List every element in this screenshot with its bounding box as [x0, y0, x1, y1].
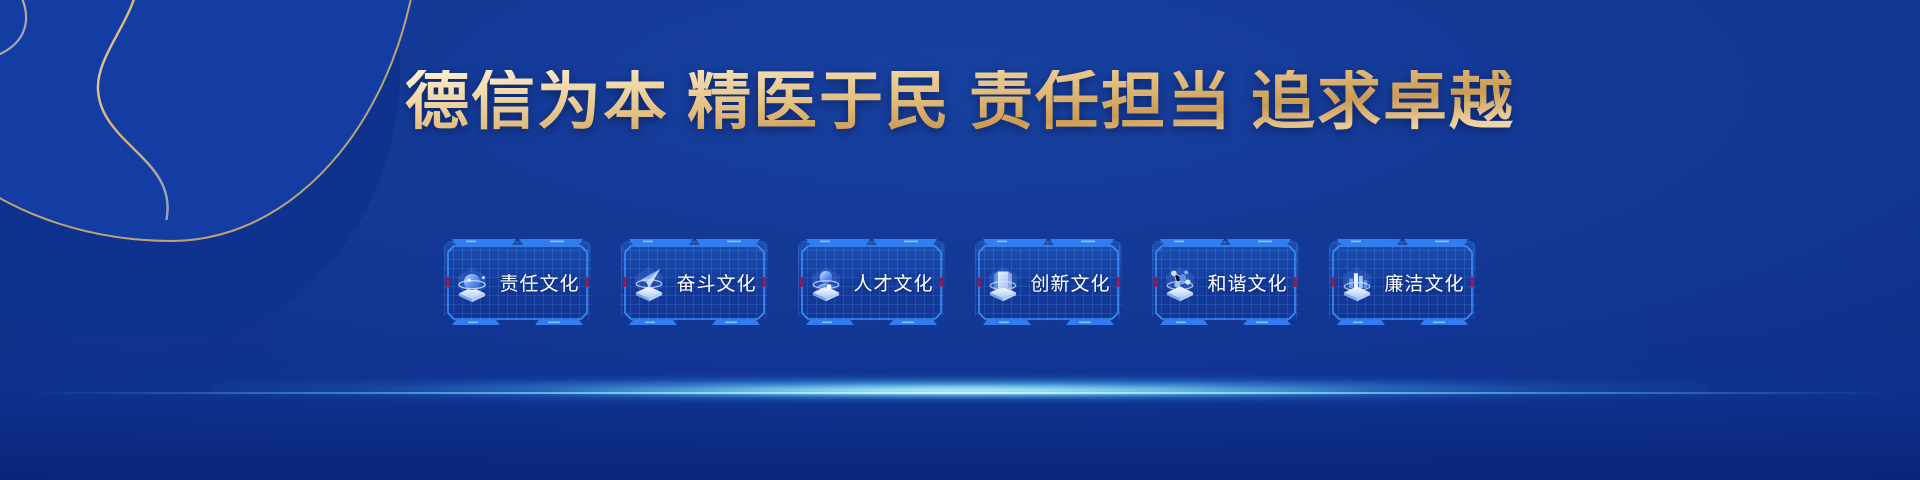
person-bust-icon — [805, 261, 847, 303]
culture-card-harmony[interactable]: 和谐文化 — [1148, 237, 1303, 327]
culture-card-label: 奋斗文化 — [676, 269, 756, 296]
culture-card-innovation[interactable]: 创新文化 — [971, 237, 1126, 327]
floor-gradient — [0, 330, 1920, 480]
culture-card-label: 廉洁文化 — [1384, 269, 1464, 296]
culture-card-responsibility[interactable]: 责任文化 — [440, 237, 595, 327]
culture-card-talent[interactable]: 人才文化 — [794, 237, 949, 327]
page-title: 德信为本 精医于民 责任担当 追求卓越 — [405, 70, 1515, 134]
open-book-icon — [982, 261, 1024, 303]
headline-container: 德信为本 精医于民 责任担当 追求卓越 — [0, 70, 1920, 134]
rocket-arrow-icon — [628, 261, 670, 303]
bar-chart-icon — [1336, 261, 1378, 303]
culture-card-label: 和谐文化 — [1207, 269, 1287, 296]
culture-card-row: 责任文化 — [0, 237, 1920, 327]
globe-person-icon — [451, 261, 493, 303]
culture-card-label: 创新文化 — [1030, 269, 1110, 296]
culture-card-integrity[interactable]: 廉洁文化 — [1325, 237, 1480, 327]
culture-card-label: 人才文化 — [853, 269, 933, 296]
culture-card-striving[interactable]: 奋斗文化 — [617, 237, 772, 327]
culture-card-label: 责任文化 — [499, 269, 579, 296]
molecule-network-icon — [1159, 261, 1201, 303]
floor-glow-core — [550, 386, 1370, 396]
culture-banner: 德信为本 精医于民 责任担当 追求卓越 — [0, 0, 1920, 480]
